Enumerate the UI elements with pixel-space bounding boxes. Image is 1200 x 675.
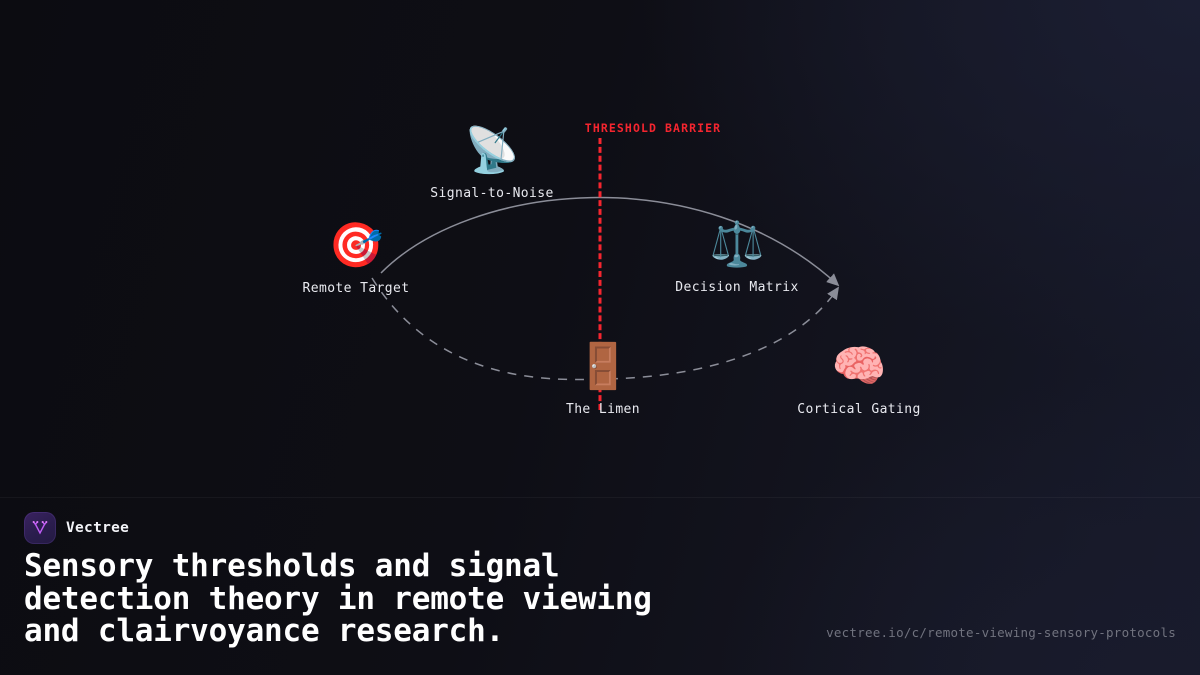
threshold-barrier-label: THRESHOLD BARRIER <box>585 121 721 135</box>
headline: Sensory thresholds and signal detection … <box>24 550 824 648</box>
brand-name: Vectree <box>66 520 129 536</box>
vectree-logo-icon <box>24 512 56 544</box>
threshold-barrier-line <box>599 138 602 410</box>
footer: Vectree Sensory thresholds and signal de… <box>0 498 1200 675</box>
edge-lower-arc <box>372 278 838 380</box>
edge-upper-arc <box>381 198 838 285</box>
threshold-barrier <box>599 138 602 410</box>
brand[interactable]: Vectree <box>24 512 129 544</box>
concept-diagram: THRESHOLD BARRIER 🎯 Remote Target 📡 Sign… <box>0 0 1200 497</box>
screenshot-canvas: THRESHOLD BARRIER 🎯 Remote Target 📡 Sign… <box>0 0 1200 675</box>
source-url: vectree.io/c/remote-viewing-sensory-prot… <box>826 625 1176 640</box>
